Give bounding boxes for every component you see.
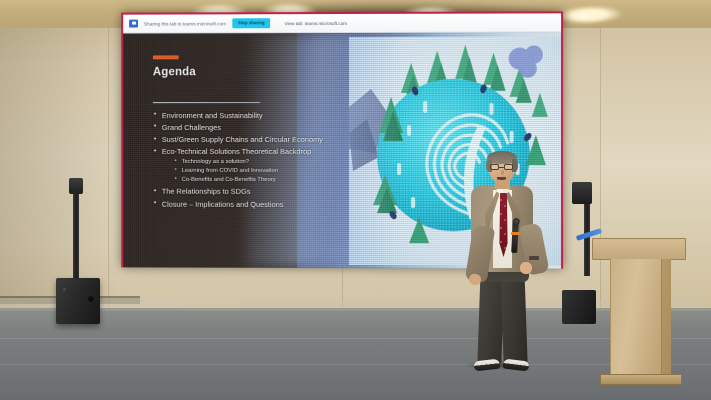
podium-base <box>600 374 682 385</box>
agenda-subitem: Learning from COVID and Innovation <box>175 168 362 176</box>
podium-front <box>610 259 662 379</box>
conference-room-scene: Sharing this tab to teams.microsoft.com … <box>0 0 711 400</box>
title-accent-bar <box>153 55 179 59</box>
presenter-tie-knot <box>500 193 507 199</box>
pa-speaker-right <box>562 290 596 324</box>
agenda-item-label: Grand Challenges <box>162 123 221 132</box>
agenda-item-label: Sust/Green Supply Chains and Circular Ec… <box>162 135 323 144</box>
agenda-item-label: The Relationships to SDGs <box>162 187 251 196</box>
share-status-text: Sharing this tab to teams.microsoft.com <box>144 21 226 26</box>
stop-sharing-button[interactable]: Stop sharing <box>232 18 271 27</box>
agenda-item: Closure – Implications and Questions <box>153 199 362 208</box>
presenter-mouth <box>497 177 506 180</box>
agenda-item: Grand Challenges <box>153 123 362 132</box>
podium-top <box>592 238 686 260</box>
agenda-item-label: Environment and Sustainability <box>162 111 263 120</box>
agenda-item: Eco-Technical Solutions Theoretical Back… <box>153 147 362 184</box>
pa-speaker-left-pole <box>73 186 79 282</box>
agenda-item-label: Closure – Implications and Questions <box>162 199 284 208</box>
page-title: Agenda <box>153 65 362 77</box>
slide-content: Agenda Environment and SustainabilityGra… <box>153 55 362 212</box>
presenter-legs <box>477 268 529 366</box>
pa-speaker-left <box>56 278 100 324</box>
wall-seam-1 <box>108 28 109 328</box>
microphone-band <box>511 232 520 235</box>
agenda-item-label: Eco-Technical Solutions Theoretical Back… <box>162 147 311 156</box>
agenda-subitem: Technology as a solution? <box>175 159 362 166</box>
ceiling-light-5 <box>556 8 610 24</box>
presenter-torso <box>471 186 533 272</box>
pa-speaker-right-top <box>572 182 592 204</box>
agenda-item: Environment and Sustainability <box>153 111 362 120</box>
presenter-nose <box>501 170 504 175</box>
screen-share-icon <box>129 20 138 28</box>
presenter-leg-right <box>500 268 527 365</box>
glasses-lens-left <box>490 164 499 170</box>
agenda-sublist: Technology as a solution?Learning from C… <box>175 159 362 185</box>
agenda-item: The Relationships to SDGs <box>153 187 362 196</box>
pa-speaker-left-top <box>69 178 83 194</box>
presenter-wristwatch <box>529 256 539 260</box>
title-divider <box>153 102 260 103</box>
wooden-podium <box>592 238 686 386</box>
screen-share-bar: Sharing this tab to teams.microsoft.com … <box>123 13 561 33</box>
agenda-list: Environment and SustainabilityGrand Chal… <box>153 111 362 209</box>
view-tab-link[interactable]: View tab: teams.microsoft.com <box>285 20 347 25</box>
presenter-hand-right <box>520 262 532 274</box>
agenda-item: Sust/Green Supply Chains and Circular Ec… <box>153 135 362 144</box>
presenter <box>461 152 545 400</box>
glasses-lens-right <box>504 164 513 170</box>
agenda-subitem: Co-Benefits and Co-Benefits Theory <box>175 177 362 185</box>
